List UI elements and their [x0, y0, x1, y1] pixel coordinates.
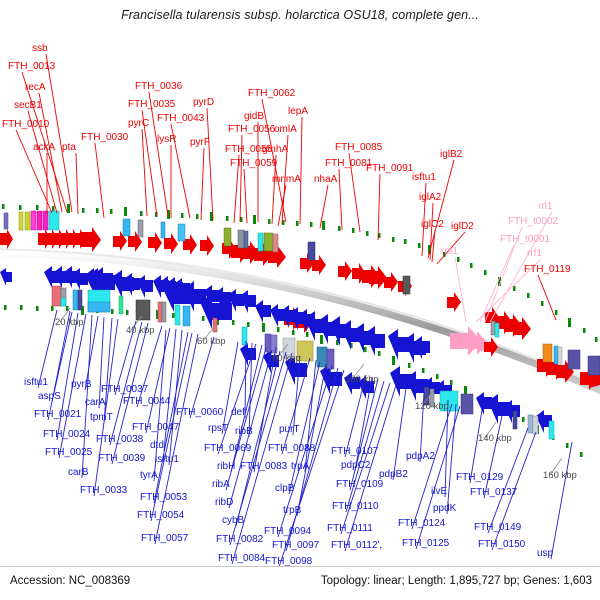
gene-label-forward[interactable]: FTH_0091	[366, 163, 414, 174]
gene-label-reverse[interactable]: FTH_0124	[398, 518, 446, 529]
gene-label-forward[interactable]: pyrD	[193, 97, 214, 108]
gene-label-forward[interactable]: lepA	[288, 106, 308, 117]
gene-label-forward[interactable]: iglB2	[440, 149, 463, 160]
gene-label-reverse[interactable]: carA	[85, 397, 106, 408]
gene-label-reverse[interactable]: FTH_0021	[34, 409, 82, 420]
gene-label-forward[interactable]: ssb	[32, 43, 48, 54]
gene-label-forward[interactable]: FTH_0036	[135, 81, 183, 92]
gene-label-reverse[interactable]: FTH_0094	[264, 526, 312, 537]
gene-label-reverse[interactable]: tpmT	[90, 412, 113, 423]
gene-label-reverse[interactable]: trpA	[291, 461, 310, 472]
gene-label-reverse[interactable]: FTH_0097	[272, 540, 320, 551]
gene-label-forward[interactable]: pyrC	[128, 118, 149, 129]
gene-label-forward[interactable]: secB1	[14, 100, 42, 111]
gene-label-forward-leader	[244, 169, 247, 223]
gene-label-reverse[interactable]: FTH_0084	[218, 553, 266, 564]
gene-label-forward-leader	[201, 148, 204, 220]
gene-label-reverse-leader	[350, 379, 378, 490]
gene-label-forward-leader	[432, 230, 435, 262]
gene-labels[interactable]: ssbFTH_0013recAsecB1FTH_0010ackAptaFTH_0…	[2, 43, 571, 567]
gene-label-reverse[interactable]: def	[231, 407, 245, 418]
gene-label-reverse[interactable]: FTH_0047	[132, 422, 180, 433]
gene-label-reverse[interactable]: FTH_0088	[268, 443, 316, 454]
gene-label-reverse[interactable]: carB	[68, 467, 89, 478]
gene-label-forward[interactable]: ackA	[33, 142, 56, 153]
gene-label-reverse[interactable]: FTH_0110	[332, 501, 379, 512]
gene-label-reverse-leader	[447, 404, 456, 514]
gene-label-reverse[interactable]: ribD	[215, 497, 233, 508]
gene-label-reverse[interactable]: FTH_0082	[216, 534, 264, 545]
genome-map-viewer: Francisella tularensis subsp. holarctica…	[0, 0, 600, 600]
gene-label-reverse[interactable]: aspS	[38, 391, 61, 402]
gene-label-reverse[interactable]: isftu1	[155, 454, 179, 465]
scale-marker-label: 20 kbp	[55, 317, 84, 328]
gene-label-reverse[interactable]: pyrB	[71, 379, 92, 390]
gene-label-reverse[interactable]: FTH_0024	[43, 429, 91, 440]
gene-label-reverse[interactable]: FTH_0038	[96, 434, 144, 445]
gene-label-forward[interactable]: FTH_0059	[230, 158, 278, 169]
gene-label-reverse[interactable]: ilvE	[431, 486, 447, 497]
gene-label-forward-leader	[95, 143, 104, 218]
footer-bar: Accession: NC_008369 Topology: linear; L…	[0, 570, 600, 596]
gene-label-forward[interactable]: FTH_0030	[81, 132, 129, 143]
gene-label-reverse[interactable]: pdpB2	[379, 469, 408, 480]
gene-label-forward-leader	[378, 174, 380, 240]
gene-label-reverse[interactable]: isftu1	[24, 377, 48, 388]
gene-label-forward[interactable]: gidB	[244, 111, 264, 122]
gene-label-reverse[interactable]: FTH_0150	[478, 539, 526, 550]
gene-label-forward-leader	[149, 92, 168, 216]
gene-label-reverse[interactable]: FTH_0060	[176, 407, 224, 418]
gene-label-forward[interactable]: iglD2	[451, 221, 474, 232]
gene-label-forward[interactable]: recA	[25, 82, 46, 93]
gene-label-forward[interactable]: pta	[62, 142, 76, 153]
gene-label-forward[interactable]: FTH_0085	[335, 142, 383, 153]
gene-label-forward[interactable]: gmhA	[262, 144, 288, 155]
gene-label-reverse-leader	[484, 416, 502, 498]
gene-label-rna[interactable]: rrs1	[441, 246, 459, 257]
footer-divider	[0, 566, 600, 567]
gene-label-reverse[interactable]: dtd	[150, 440, 164, 451]
gene-label-reverse-leader	[551, 442, 572, 559]
gene-label-forward[interactable]: FTH_0043	[157, 113, 205, 124]
gene-label-reverse[interactable]: FTH_0025	[45, 447, 93, 458]
gene-label-reverse-leader	[146, 328, 170, 433]
scale-marker-label: 60 kbp	[197, 336, 226, 347]
gene-label-reverse[interactable]: FTH_0137	[470, 487, 518, 498]
gene-label-reverse[interactable]: ribH	[217, 461, 235, 472]
gene-label-forward[interactable]: lysR	[157, 134, 176, 145]
scale-marker-label: 120 kbp	[415, 401, 449, 412]
gene-label-reverse[interactable]: FTH_0149	[474, 522, 522, 533]
gene-label-reverse[interactable]: FTH_0044	[123, 396, 171, 407]
gene-label-forward-leader	[339, 169, 342, 230]
scale-marker-label: 100 kbp	[345, 374, 379, 385]
gene-label-reverse[interactable]: pdpC2	[341, 460, 371, 471]
accession-text: Accession: NC_008369	[10, 575, 130, 587]
gene-label-forward[interactable]: mnmA	[272, 174, 301, 185]
gene-label-reverse[interactable]: FTH_0107	[331, 446, 379, 457]
feature-boxes-lower[interactable]	[52, 286, 554, 439]
gene-label-reverse-leader	[190, 337, 214, 418]
scale-marker-label: 40 kbp	[126, 325, 155, 336]
gene-label-forward-leader	[76, 153, 78, 214]
gene-label-reverse[interactable]: ribA	[212, 479, 230, 490]
gene-label-rna[interactable]: rrf1	[527, 248, 542, 259]
gene-label-rna[interactable]: rrl1	[538, 201, 553, 212]
genome-stats-text: Topology: linear; Length: 1,895,727 bp; …	[321, 575, 592, 587]
gene-label-reverse[interactable]: tyrA	[140, 470, 158, 481]
scale-marker-label: 160 kbp	[543, 470, 577, 481]
gene-label-reverse-leader	[48, 312, 72, 420]
gene-label-forward[interactable]: iglC2	[421, 219, 444, 230]
gene-label-reverse[interactable]: FTH_0069	[204, 443, 252, 454]
gene-label-reverse[interactable]: ppdK	[433, 503, 457, 514]
gene-label-rna-leader	[455, 257, 466, 322]
gene-label-reverse[interactable]: clpB	[275, 483, 295, 494]
gene-label-reverse[interactable]: usp	[537, 548, 554, 559]
gene-label-forward[interactable]: FTH_0010	[2, 119, 50, 130]
gene-label-forward[interactable]: FTH_0056	[228, 124, 276, 135]
gene-label-forward[interactable]: omlA	[274, 124, 297, 135]
gene-label-reverse[interactable]: ribB	[235, 426, 253, 437]
gene-label-reverse[interactable]: FTH_0112',	[331, 540, 382, 551]
gene-label-forward[interactable]: FTH_0035	[128, 99, 176, 110]
gene-label-forward-leader	[300, 117, 302, 224]
gene-label-forward[interactable]: FTH_0062	[248, 88, 296, 99]
gene-label-reverse[interactable]: pdpA2	[406, 451, 435, 462]
gene-label-reverse[interactable]: FTH_0037	[101, 384, 149, 395]
gene-label-reverse[interactable]: FTH_0083	[240, 461, 288, 472]
gene-label-forward[interactable]: pyrF	[190, 137, 210, 148]
gene-label-reverse[interactable]: FTH_0125	[402, 538, 450, 549]
gene-label-reverse-leader	[393, 388, 406, 480]
gene-label-reverse[interactable]: rpsT	[208, 423, 228, 434]
gene-label-forward[interactable]: FTH_0119	[524, 264, 571, 275]
gene-label-rna[interactable]: FTH_t0001	[500, 234, 550, 245]
gene-label-forward-leader	[538, 275, 556, 320]
gene-label-reverse[interactable]: FTH_0129	[456, 472, 504, 483]
gene-label-reverse[interactable]: FTH_0109	[336, 479, 384, 490]
scale-marker-label: 140 kbp	[478, 433, 512, 444]
gene-label-reverse[interactable]: cybB	[222, 515, 245, 526]
gene-label-forward-leader	[207, 108, 213, 220]
gene-label-reverse[interactable]: FTH_0111	[327, 523, 373, 534]
gene-label-reverse[interactable]: FTH_0033	[80, 485, 128, 496]
gene-label-reverse[interactable]: FTH_0057	[141, 533, 189, 544]
gene-label-reverse[interactable]: FTH_0054	[137, 510, 185, 521]
gene-label-forward[interactable]: iglA2	[419, 192, 442, 203]
gene-label-forward[interactable]: FTH_0013	[8, 61, 56, 72]
gene-label-reverse[interactable]: trpB	[283, 505, 302, 516]
gene-label-forward[interactable]: isftu1	[412, 172, 436, 183]
gene-label-forward[interactable]: nhaA	[314, 174, 338, 185]
gene-label-rna[interactable]: FTH_t0002	[508, 216, 558, 227]
genome-map-canvas[interactable]: ssbFTH_0013recAsecB1FTH_0010ackAptaFTH_0…	[0, 0, 600, 600]
gene-label-reverse[interactable]: purT	[279, 424, 300, 435]
gene-label-reverse[interactable]: FTH_0053	[140, 492, 188, 503]
scale-marker-label: 80 kbp	[272, 353, 301, 364]
gene-label-reverse[interactable]: FTH_0039	[98, 453, 146, 464]
